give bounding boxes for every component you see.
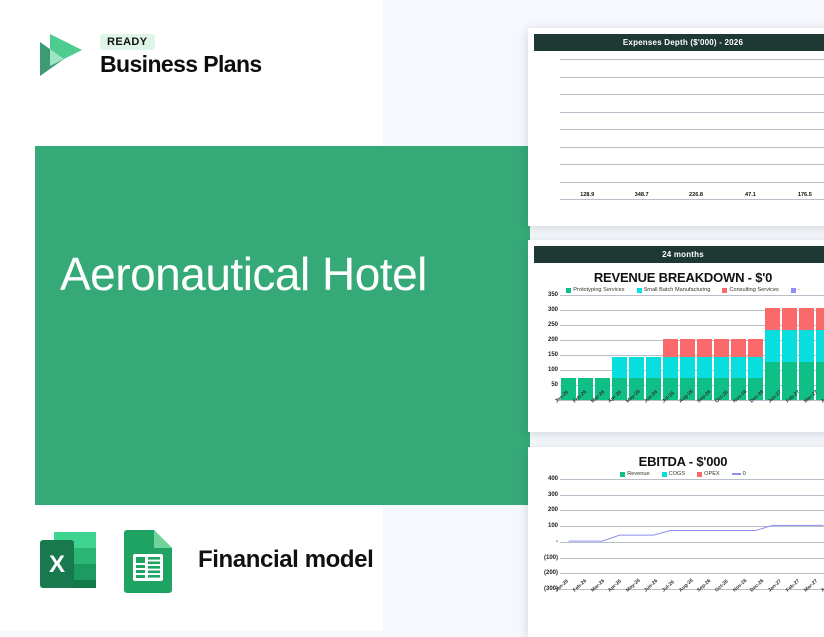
- bar-segment: [748, 339, 763, 357]
- bar-segment: [680, 339, 695, 357]
- chart-card-ebitda[interactable]: EBITDA - $'000 RevenueCOGSOPEX0 40030020…: [528, 447, 824, 637]
- legend-item: -: [791, 287, 800, 293]
- revenue-x-axis: Jan-26Feb-26Mar-26Apr-26May-26Jun-26Jul-…: [554, 400, 824, 406]
- legend-label: Small Batch Manufacturing: [644, 287, 711, 293]
- bar-segment: [816, 330, 824, 362]
- revenue-y-axis: 35030025020015010050-: [534, 295, 560, 400]
- bar-group: [662, 295, 679, 400]
- bar-group: [611, 295, 628, 400]
- revenue-plot-area: 35030025020015010050-: [534, 295, 824, 400]
- legend-swatch: [722, 288, 727, 293]
- bar-group: [696, 479, 713, 589]
- y-axis-tick: 300: [548, 307, 558, 313]
- bar-group: [781, 479, 798, 589]
- brand-name: Business Plans: [100, 52, 262, 76]
- bar-group: [815, 295, 824, 400]
- bar-group: [747, 479, 764, 589]
- legend-swatch: [566, 288, 571, 293]
- legend-label: Prototyping Services: [573, 287, 624, 293]
- y-axis-tick: -: [556, 539, 558, 545]
- y-axis-tick: (200): [544, 570, 558, 576]
- bar-segment: [765, 308, 780, 330]
- bar-segment: [782, 330, 797, 362]
- bar-value-label: 348.7: [635, 192, 649, 198]
- bar-segment: [782, 308, 797, 330]
- bar-group: 348.7: [614, 192, 668, 199]
- bar-segment: [629, 357, 644, 379]
- y-axis-tick: 150: [548, 352, 558, 358]
- bar-segment: [612, 357, 627, 379]
- bar-segment: [663, 357, 678, 379]
- legend-swatch: [791, 288, 796, 293]
- chart-card-expenses[interactable]: Expenses Depth ($'000) - 2026 128.9348.7…: [528, 28, 824, 226]
- ebitda-plot-area: 400300200100-(100)(200)(300): [534, 479, 824, 589]
- bar-group: [679, 295, 696, 400]
- bar-group: [730, 479, 747, 589]
- bar-segment: [714, 339, 729, 357]
- google-sheets-icon: [118, 524, 178, 596]
- revenue-breakdown-chart: REVENUE BREAKDOWN - $'0 Prototyping Serv…: [528, 263, 824, 402]
- bar-group: [662, 479, 679, 589]
- bar-value-label: 128.9: [580, 192, 594, 198]
- excel-icon: X: [32, 524, 104, 596]
- legend-label: 0: [743, 471, 746, 477]
- bar-group: [611, 479, 628, 589]
- bar-value-label: 176.5: [798, 192, 812, 198]
- bar-segment: [799, 330, 814, 362]
- bar-segment: [697, 357, 712, 379]
- play-triangle-logo-icon: [30, 26, 88, 84]
- legend-item: 0: [732, 471, 746, 477]
- legend-item: Prototyping Services: [566, 287, 624, 293]
- y-axis-tick: 100: [548, 367, 558, 373]
- bar-group: [815, 479, 824, 589]
- bar-group: 47.1: [723, 192, 777, 199]
- bar-group: [696, 295, 713, 400]
- chart-card-title-expenses: Expenses Depth ($'000) - 2026: [534, 34, 824, 51]
- bar-group: [764, 295, 781, 400]
- bar-segment: [765, 330, 780, 362]
- bar-group: [628, 479, 645, 589]
- legend-swatch: [732, 473, 741, 475]
- bar-value-label: 226.8: [689, 192, 703, 198]
- bar-group: [713, 479, 730, 589]
- expenses-plot-area: 128.9348.7226.847.1176.5: [534, 59, 824, 199]
- legend-item: Small Batch Manufacturing: [637, 287, 711, 293]
- brand-logo-block: READY Business Plans: [30, 26, 262, 84]
- bar-group: [594, 295, 611, 400]
- ebitda-chart-heading: EBITDA - $'000: [534, 454, 824, 469]
- bar-segment: [663, 339, 678, 357]
- bar-group: 128.9: [560, 192, 614, 199]
- footer-label: Financial model: [198, 546, 373, 574]
- y-axis-tick: 100: [548, 523, 558, 529]
- ready-badge: READY: [100, 34, 155, 50]
- legend-label: COGS: [669, 471, 685, 477]
- bar-group: [679, 479, 696, 589]
- ebitda-legend: RevenueCOGSOPEX0: [534, 471, 824, 477]
- legend-label: OPEX: [704, 471, 720, 477]
- svg-text:X: X: [49, 551, 65, 578]
- ebitda-x-axis: Jan-26Feb-26Mar-26Apr-26May-26Jun-26Jul-…: [554, 589, 824, 595]
- bar-group: 176.5: [778, 192, 824, 199]
- bar-segment: [714, 357, 729, 379]
- bar-group: [577, 295, 594, 400]
- bar-group: [645, 479, 662, 589]
- chart-card-title-months: 24 months: [534, 246, 824, 263]
- y-axis-tick: 400: [548, 476, 558, 482]
- bar-group: [730, 295, 747, 400]
- bar-group: [798, 479, 815, 589]
- bar-group: 226.8: [669, 192, 723, 199]
- y-axis-tick: 50: [551, 382, 558, 388]
- bar-group: [798, 295, 815, 400]
- bar-group: [560, 295, 577, 400]
- ebitda-y-axis: 400300200100-(100)(200)(300): [534, 479, 560, 589]
- bar-group: [560, 479, 577, 589]
- legend-item: Revenue: [620, 471, 649, 477]
- ebitda-chart: EBITDA - $'000 RevenueCOGSOPEX0 40030020…: [528, 447, 824, 591]
- legend-swatch: [697, 472, 702, 477]
- bar-value-label: 47.1: [745, 192, 756, 198]
- legend-item: Consulting Services: [722, 287, 778, 293]
- legend-label: Consulting Services: [729, 287, 778, 293]
- revenue-bars: [560, 295, 824, 400]
- ebitda-bars: [560, 479, 824, 589]
- y-axis-tick: 250: [548, 322, 558, 328]
- revenue-chart-heading: REVENUE BREAKDOWN - $'0: [534, 270, 824, 285]
- bar-group: [628, 295, 645, 400]
- gridline: [560, 199, 824, 200]
- legend-item: COGS: [662, 471, 685, 477]
- page-title: Aeronautical Hotel: [60, 250, 490, 300]
- y-axis-tick: 200: [548, 337, 558, 343]
- hero-panel: [35, 146, 530, 505]
- chart-card-revenue-breakdown[interactable]: 24 months REVENUE BREAKDOWN - $'0 Protot…: [528, 240, 824, 432]
- bar-segment: [646, 357, 661, 379]
- brand-text-block: READY Business Plans: [100, 34, 262, 76]
- bar-group: [594, 479, 611, 589]
- legend-item: OPEX: [697, 471, 720, 477]
- expenses-depth-chart: 128.9348.7226.847.1176.5: [528, 51, 824, 201]
- revenue-legend: Prototyping ServicesSmall Batch Manufact…: [534, 287, 824, 293]
- bar-segment: [731, 339, 746, 357]
- bar-segment: [680, 357, 695, 379]
- bar-group: [764, 479, 781, 589]
- y-axis-tick: (100): [544, 555, 558, 561]
- footer-format-row: X Financial model: [32, 524, 373, 596]
- y-axis-tick: 350: [548, 292, 558, 298]
- bar-segment: [697, 339, 712, 357]
- y-axis-tick: 200: [548, 507, 558, 513]
- bar-segment: [799, 308, 814, 330]
- legend-label: -: [798, 287, 800, 293]
- bar-group: [645, 295, 662, 400]
- bar-segment: [816, 308, 824, 330]
- y-axis-tick: 300: [548, 492, 558, 498]
- legend-swatch: [620, 472, 625, 477]
- bar-segment: [731, 357, 746, 379]
- bar-group: [577, 479, 594, 589]
- legend-label: Revenue: [627, 471, 649, 477]
- expenses-bars: 128.9348.7226.847.1176.5: [560, 59, 824, 199]
- bar-group: [747, 295, 764, 400]
- legend-swatch: [662, 472, 667, 477]
- bar-group: [781, 295, 798, 400]
- bar-group: [713, 295, 730, 400]
- bar-segment: [748, 357, 763, 379]
- legend-swatch: [637, 288, 642, 293]
